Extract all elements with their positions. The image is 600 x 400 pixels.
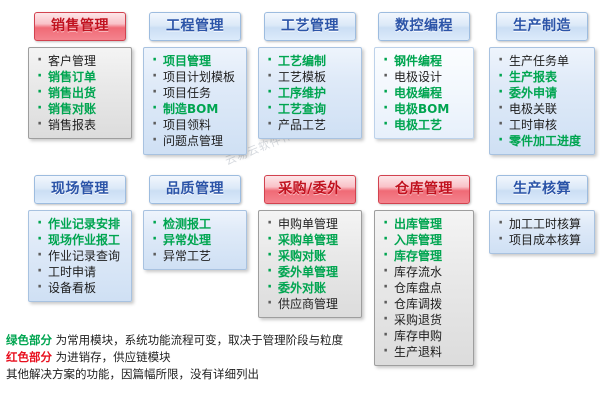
module-sales-management[interactable]: 销售管理客户管理销售订单销售出货销售对账销售报表	[28, 12, 132, 139]
module-body-production-manufacturing: 生产任务单生产报表委外申请电极关联工时审核零件加工进度	[489, 47, 595, 155]
module-production-manufacturing[interactable]: 生产制造生产任务单生产报表委外申请电极关联工时审核零件加工进度	[489, 12, 595, 155]
module-item[interactable]: 委外申请	[494, 85, 590, 101]
module-item[interactable]: 工时审核	[494, 117, 590, 133]
diagram-canvas: 云易云软件作图 销售管理客户管理销售订单销售出货销售对账销售报表工程管理项目管理…	[0, 0, 600, 400]
module-item[interactable]: 生产报表	[494, 69, 590, 85]
module-shopfloor-management[interactable]: 现场管理作业记录安排现场作业报工作业记录查询工时申请设备看板	[28, 175, 132, 302]
module-item[interactable]: 作业记录查询	[33, 248, 127, 264]
module-item[interactable]: 仓库调拨	[379, 296, 469, 312]
module-item-list-purchasing-outsourcing: 申购单管理采购单管理采购对账委外单管理委外对账供应商管理	[263, 216, 357, 312]
module-header-engineering-management[interactable]: 工程管理	[149, 12, 241, 41]
legend-red-key: 红色部分	[6, 350, 52, 364]
module-item[interactable]: 工艺模板	[263, 69, 357, 85]
module-quality-management[interactable]: 品质管理检测报工异常处理异常工艺	[143, 175, 247, 270]
module-item[interactable]: 制造BOM	[148, 101, 242, 117]
module-header-process-management[interactable]: 工艺管理	[264, 12, 356, 41]
module-item[interactable]: 异常工艺	[148, 248, 242, 264]
legend-line-green: 绿色部分 为常用模块，系统功能流程可变，取决于管理阶段与粒度	[6, 332, 426, 349]
module-item[interactable]: 入库管理	[379, 232, 469, 248]
module-body-sales-management: 客户管理销售订单销售出货销售对账销售报表	[28, 47, 132, 139]
module-item[interactable]: 加工工时核算	[494, 216, 590, 232]
module-item-list-production-accounting: 加工工时核算项目成本核算	[494, 216, 590, 248]
module-item[interactable]: 电极BOM	[379, 101, 469, 117]
module-item[interactable]: 工艺编制	[263, 53, 357, 69]
legend-line-note: 其他解决方案的功能，因篇幅所限，没有详细列出	[6, 366, 426, 383]
module-header-shopfloor-management[interactable]: 现场管理	[34, 175, 126, 204]
legend-red-text: 为进销存，供应链模块	[56, 350, 171, 364]
module-item[interactable]: 销售对账	[33, 101, 127, 117]
module-item[interactable]: 库存流水	[379, 264, 469, 280]
module-item[interactable]: 检测报工	[148, 216, 242, 232]
legend: 绿色部分 为常用模块，系统功能流程可变，取决于管理阶段与粒度 红色部分 为进销存…	[6, 332, 426, 383]
module-header-cnc-programming[interactable]: 数控编程	[378, 12, 470, 41]
module-header-purchasing-outsourcing[interactable]: 采购/委外	[264, 175, 356, 204]
module-header-quality-management[interactable]: 品质管理	[149, 175, 241, 204]
module-body-production-accounting: 加工工时核算项目成本核算	[489, 210, 595, 254]
module-item[interactable]: 项目计划模板	[148, 69, 242, 85]
module-item[interactable]: 仓库盘点	[379, 280, 469, 296]
module-item[interactable]: 申购单管理	[263, 216, 357, 232]
module-item-list-quality-management: 检测报工异常处理异常工艺	[148, 216, 242, 264]
module-body-quality-management: 检测报工异常处理异常工艺	[143, 210, 247, 270]
module-item[interactable]: 库存管理	[379, 248, 469, 264]
module-engineering-management[interactable]: 工程管理项目管理项目计划模板项目任务制造BOM项目领料问题点管理	[143, 12, 247, 155]
module-item-list-cnc-programming: 钢件编程电极设计电极编程电极BOM电极工艺	[379, 53, 469, 133]
module-item[interactable]: 电极设计	[379, 69, 469, 85]
module-body-process-management: 工艺编制工艺模板工序维护工艺查询产品工艺	[258, 47, 362, 139]
module-item[interactable]: 采购单管理	[263, 232, 357, 248]
module-item[interactable]: 产品工艺	[263, 117, 357, 133]
module-item[interactable]: 工时申请	[33, 264, 127, 280]
legend-green-text: 为常用模块，系统功能流程可变，取决于管理阶段与粒度	[56, 333, 344, 347]
module-item-list-production-manufacturing: 生产任务单生产报表委外申请电极关联工时审核零件加工进度	[494, 53, 590, 149]
module-item[interactable]: 工序维护	[263, 85, 357, 101]
module-item[interactable]: 项目任务	[148, 85, 242, 101]
module-purchasing-outsourcing[interactable]: 采购/委外申购单管理采购单管理采购对账委外单管理委外对账供应商管理	[258, 175, 362, 318]
module-item[interactable]: 零件加工进度	[494, 133, 590, 149]
module-item[interactable]: 采购对账	[263, 248, 357, 264]
module-body-engineering-management: 项目管理项目计划模板项目任务制造BOM项目领料问题点管理	[143, 47, 247, 155]
module-item[interactable]: 电极关联	[494, 101, 590, 117]
module-item[interactable]: 项目领料	[148, 117, 242, 133]
module-item[interactable]: 销售出货	[33, 85, 127, 101]
module-body-shopfloor-management: 作业记录安排现场作业报工作业记录查询工时申请设备看板	[28, 210, 132, 302]
module-item[interactable]: 出库管理	[379, 216, 469, 232]
module-item[interactable]: 客户管理	[33, 53, 127, 69]
module-body-purchasing-outsourcing: 申购单管理采购单管理采购对账委外单管理委外对账供应商管理	[258, 210, 362, 318]
module-item-list-engineering-management: 项目管理项目计划模板项目任务制造BOM项目领料问题点管理	[148, 53, 242, 149]
module-header-production-manufacturing[interactable]: 生产制造	[496, 12, 588, 41]
module-item[interactable]: 采购退货	[379, 312, 469, 328]
module-item[interactable]: 设备看板	[33, 280, 127, 296]
module-item[interactable]: 现场作业报工	[33, 232, 127, 248]
module-item[interactable]: 生产任务单	[494, 53, 590, 69]
module-item[interactable]: 销售报表	[33, 117, 127, 133]
module-item-list-shopfloor-management: 作业记录安排现场作业报工作业记录查询工时申请设备看板	[33, 216, 127, 296]
module-item[interactable]: 销售订单	[33, 69, 127, 85]
module-item[interactable]: 项目成本核算	[494, 232, 590, 248]
module-header-production-accounting[interactable]: 生产核算	[496, 175, 588, 204]
module-item[interactable]: 供应商管理	[263, 296, 357, 312]
module-item[interactable]: 钢件编程	[379, 53, 469, 69]
module-cnc-programming[interactable]: 数控编程钢件编程电极设计电极编程电极BOM电极工艺	[374, 12, 474, 139]
module-item-list-sales-management: 客户管理销售订单销售出货销售对账销售报表	[33, 53, 127, 133]
module-item[interactable]: 电极工艺	[379, 117, 469, 133]
module-item[interactable]: 工艺查询	[263, 101, 357, 117]
module-header-sales-management[interactable]: 销售管理	[34, 12, 126, 41]
module-item[interactable]: 问题点管理	[148, 133, 242, 149]
module-process-management[interactable]: 工艺管理工艺编制工艺模板工序维护工艺查询产品工艺	[258, 12, 362, 139]
module-item[interactable]: 项目管理	[148, 53, 242, 69]
module-item[interactable]: 委外单管理	[263, 264, 357, 280]
module-header-warehouse-management[interactable]: 仓库管理	[378, 175, 470, 204]
legend-line-red: 红色部分 为进销存，供应链模块	[6, 349, 426, 366]
legend-green-key: 绿色部分	[6, 333, 52, 347]
module-production-accounting[interactable]: 生产核算加工工时核算项目成本核算	[489, 175, 595, 254]
module-item[interactable]: 异常处理	[148, 232, 242, 248]
module-item[interactable]: 委外对账	[263, 280, 357, 296]
module-item-list-process-management: 工艺编制工艺模板工序维护工艺查询产品工艺	[263, 53, 357, 133]
module-item[interactable]: 电极编程	[379, 85, 469, 101]
module-item[interactable]: 作业记录安排	[33, 216, 127, 232]
module-body-cnc-programming: 钢件编程电极设计电极编程电极BOM电极工艺	[374, 47, 474, 139]
